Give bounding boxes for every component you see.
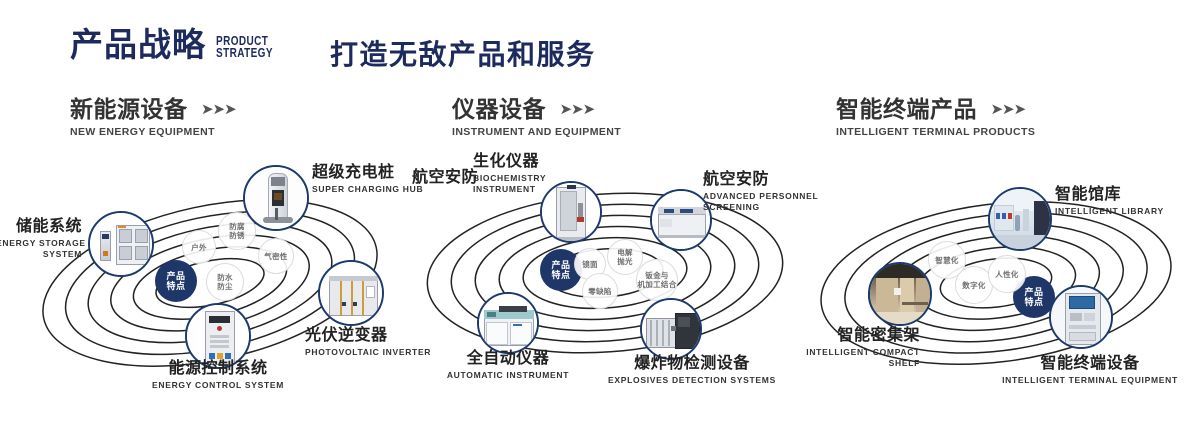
product-feature-line2: 特点 [551, 270, 570, 281]
header-slogan: 打造无敌产品和服务 [330, 33, 596, 73]
section-title-cn: 智能终端产品 [836, 97, 977, 121]
feature-bubble-airtight: 气密性 [258, 238, 294, 274]
node-pv-inverter[interactable] [318, 260, 384, 326]
header-title-group: 产品战略 PRODUCT STRATEGY [70, 28, 287, 61]
section-title-en: INTELLIGENT TERMINAL PRODUCTS [836, 126, 1035, 138]
node-energy-storage[interactable] [88, 211, 154, 277]
product-feature-line1: 产品 [1024, 287, 1043, 298]
section-header-instrument: 仪器设备 ➤➤➤ INSTRUMENT AND EQUIPMENT [452, 97, 621, 138]
section-title-cn: 仪器设备 [452, 97, 546, 121]
caption-compact-shelf: 智能密集架 INTELLIGENT COMPACT SHELF [710, 327, 920, 368]
node-compact-shelf[interactable] [868, 262, 932, 326]
product-feature-line2: 特点 [1024, 297, 1043, 308]
feature-bubble-outdoor: 户外 [182, 230, 216, 264]
feature-bubble-zerodefect: 零缺陷 [582, 273, 618, 309]
page-title-en-line2: STRATEGY [216, 47, 273, 59]
product-feature-line2: 特点 [166, 281, 185, 292]
product-feature-line1: 产品 [551, 260, 570, 271]
section-header-intelligent-terminal: 智能终端产品 ➤➤➤ INTELLIGENT TERMINAL PRODUCTS [836, 97, 1035, 138]
chevron-right-icon: ➤➤➤ [201, 100, 236, 118]
caption-intelligent-library: 智能馆库 INTELLIGENT LIBRARY [1055, 186, 1195, 217]
page-title: 产品战略 [70, 28, 206, 61]
feature-bubble-waterproof: 防水 防尘 [206, 263, 244, 301]
node-intelligent-terminal-equipment[interactable] [1049, 285, 1113, 349]
caption-energy-control: 能源控制系统 ENERGY CONTROL SYSTEM [118, 360, 318, 391]
node-charging-hub[interactable] [243, 165, 309, 231]
caption-intelligent-terminal-equipment: 智能终端设备 INTELLIGENT TERMINAL EQUIPMENT [980, 355, 1200, 386]
section-title-cn: 新能源设备 [70, 97, 188, 121]
chevron-right-icon: ➤➤➤ [990, 100, 1025, 118]
chevron-right-icon: ➤➤➤ [559, 100, 594, 118]
feature-bubble-humanized: 人性化 [988, 255, 1026, 293]
section-title-en: INSTRUMENT AND EQUIPMENT [452, 126, 621, 138]
node-explosives-detection[interactable] [640, 298, 702, 360]
section-header-new-energy: 新能源设备 ➤➤➤ NEW ENERGY EQUIPMENT [70, 97, 236, 138]
section-title-en: NEW ENERGY EQUIPMENT [70, 126, 236, 138]
product-feature-badge: 产品 特点 [155, 260, 197, 302]
cluster-intelligent-terminal: 产品 特点 智慧化 数字化 人性化 智能馆库 INTEL [800, 155, 1200, 405]
cluster-new-energy: 产品 特点 户外 防腐 防锈 气密性 防水 防尘 [0, 155, 420, 405]
page-title-en: PRODUCT STRATEGY [216, 35, 273, 59]
node-automatic-instrument[interactable] [477, 292, 539, 354]
feature-bubble-sheetmetal: 钣金与 机加工结合 [636, 259, 678, 301]
poster-canvas: 产品战略 PRODUCT STRATEGY 打造无敌产品和服务 新能源设备 ➤➤… [0, 0, 1200, 422]
product-feature-line1: 产品 [166, 271, 185, 282]
node-intelligent-library[interactable] [988, 187, 1052, 251]
caption-energy-storage: 储能系统 ENERGY STORAGE SYSTEM [0, 218, 82, 259]
caption-biochemistry-instrument: 生化仪器 BIOCHEMISTRY INSTRUMENT [473, 153, 593, 194]
